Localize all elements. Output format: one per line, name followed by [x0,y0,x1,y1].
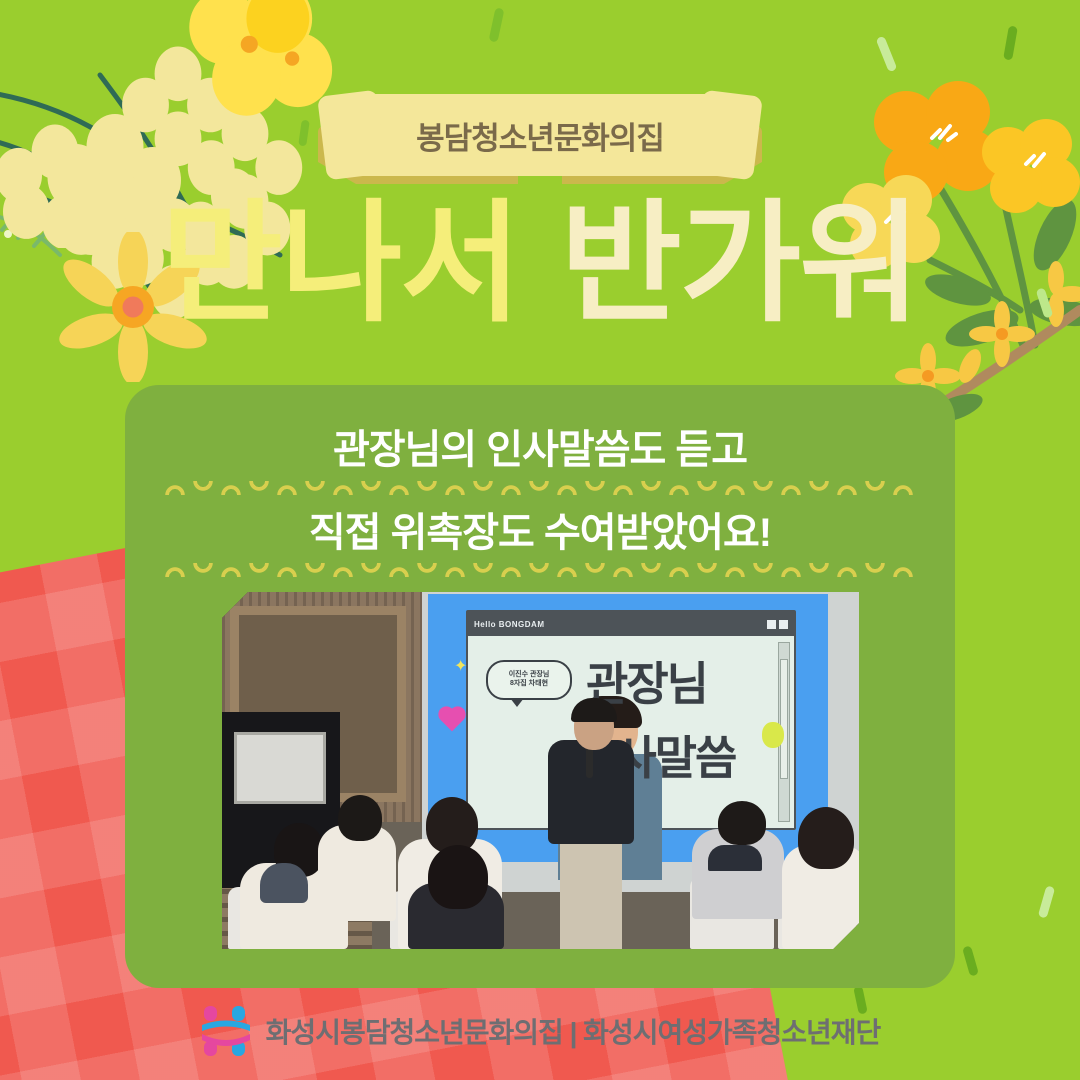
footer: 화성시봉담청소년문화의집 | 화성시여성가족청소년재단 [0,1004,1080,1058]
title-part-2: 반가워 [560,190,918,337]
poster-canvas: 봉담청소년문화의집 만나서 반가워 관장님의 인사말씀도 듣고 직접 위촉장도 … [0,0,1080,1080]
photo-slide-scroll-thumb [780,659,788,779]
body-line-1: 관장님의 인사말씀도 듣고 [125,417,955,475]
logo-icon [200,1004,252,1058]
footer-organization-label: 화성시봉담청소년문화의집 | 화성시여성가족청소년재단 [266,1011,881,1051]
close-icon [779,620,788,629]
bubble-line-1: 이진수 관장님 [509,671,550,680]
photo-slide-blob-character-icon [762,722,784,748]
wave-divider-top [161,481,919,495]
photo-slide-speech-bubble: 이진수 관장님 8자집 차태현 [486,660,572,700]
ribbon-center: 봉담청소년문화의집 [350,94,730,176]
photo-slide-window-buttons [767,620,788,629]
wave-divider-bottom [161,563,919,577]
minimize-icon [767,620,776,629]
photo-slide-window-titlebar: Hello BONGDAM [468,612,794,636]
body-line-2: 직접 위촉장도 수여받았어요! [125,500,955,558]
ribbon-label: 봉담청소년문화의집 [416,113,664,158]
foundation-logo [200,1004,252,1058]
event-photo: Hello BONGDAM 이진수 관장님 8자집 차태현 [222,592,859,949]
photo-audience [222,809,859,949]
sparkle-icon: ✦ [454,656,467,676]
photo-slide-window-title: Hello BONGDAM [474,620,545,629]
photo-wall-monitor [234,732,326,804]
bubble-line-2: 8자집 차태현 [510,680,548,689]
page-title: 만나서 반가워 [0,198,1080,330]
ribbon-banner: 봉담청소년문화의집 [0,86,1080,194]
content-card: 관장님의 인사말씀도 듣고 직접 위촉장도 수여받았어요! Hello BONG… [125,385,955,988]
title-part-1: 만나서 [161,190,519,337]
